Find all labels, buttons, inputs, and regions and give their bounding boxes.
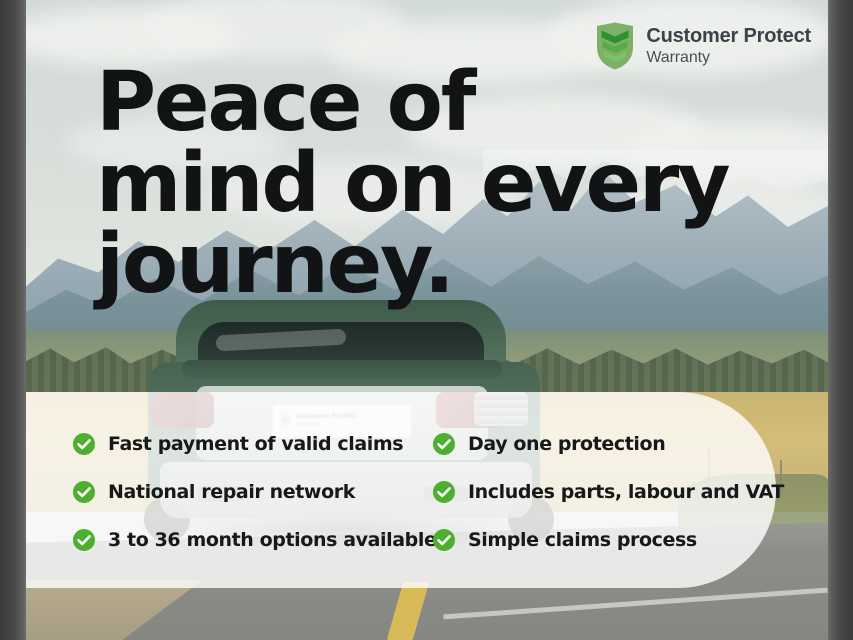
brand-text: Customer Protect Warranty [646,26,811,66]
feature-item: National repair network [72,480,432,504]
check-circle-icon [432,432,456,456]
feature-label: Includes parts, labour and VAT [468,481,784,503]
feature-item: Includes parts, labour and VAT [432,480,772,504]
headline-line-2: mind on every [96,143,728,224]
letterbox-bar-right [828,0,853,640]
check-circle-icon [432,480,456,504]
headline-line-1: Peace of [96,62,728,143]
feature-item: Day one protection [432,432,772,456]
check-circle-icon [72,480,96,504]
headline-line-3: journey. [96,224,728,305]
features-list: Fast payment of valid claims Day one pro… [72,420,812,564]
brand-logo: Customer Protect Warranty [595,22,811,70]
feature-label: Simple claims process [468,529,697,551]
feature-label: National repair network [108,481,355,503]
advert-canvas: Customer Protect Warranty Customer Prote… [0,0,853,640]
feature-item: Fast payment of valid claims [72,432,432,456]
shield-chevrons-icon [595,22,635,70]
feature-label: Fast payment of valid claims [108,433,403,455]
check-circle-icon [432,528,456,552]
brand-subtitle: Warranty [646,49,811,66]
page-title: Peace of mind on every journey. [96,62,728,306]
feature-label: 3 to 36 month options available [108,529,436,551]
brand-title: Customer Protect [646,26,811,48]
vehicle-spoiler [182,360,502,378]
check-circle-icon [72,528,96,552]
feature-item: 3 to 36 month options available [72,528,432,552]
feature-item: Simple claims process [432,528,772,552]
check-circle-icon [72,432,96,456]
feature-label: Day one protection [468,433,665,455]
